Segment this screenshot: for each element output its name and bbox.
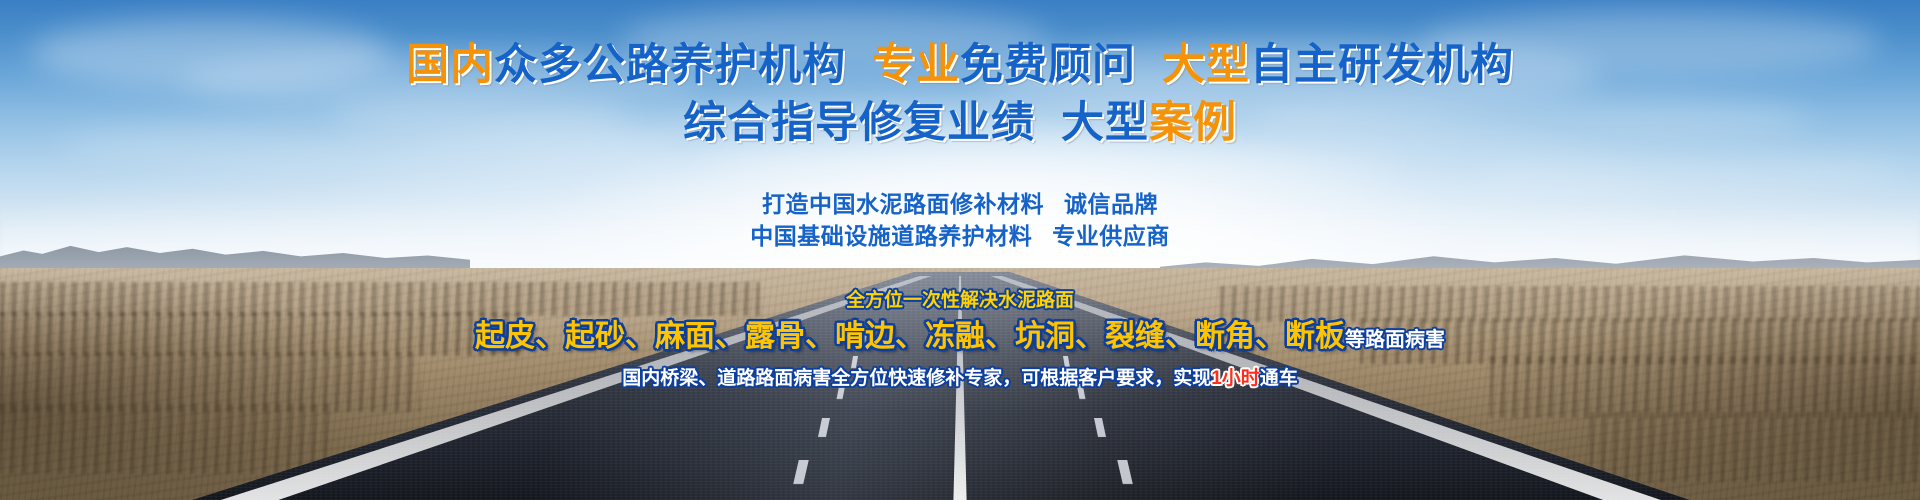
headline-seg-rnd-org: 自主研发机构 [1250,41,1514,89]
bottom-line-1: 全方位一次性解决水泥路面 [0,288,1920,314]
headline-line-2: 综合指导修复业绩大型案例 [0,96,1920,150]
bottom-defect-suffix: 等路面病害 [1345,329,1445,351]
headline-seg-large-scale: 大型 [1162,41,1250,89]
subtitle-block: 打造中国水泥路面修补材料诚信品牌 中国基础设施道路养护材料专业供应商 [0,188,1920,252]
headline-seg-guidance-results: 综合指导修复业绩 [683,99,1035,147]
headline-seg-free-consult: 免费顾问 [960,41,1136,89]
subtitle-supplier: 专业供应商 [1052,223,1170,249]
bottom-one-hour-highlight: 1小时 [1211,368,1260,389]
bottom-open-traffic: 通车 [1260,368,1298,389]
headline-line-1: 国内众多公路养护机构专业免费顾问大型自主研发机构 [0,38,1920,92]
headline-seg-large: 大型 [1061,99,1149,147]
bottom-defect-list: 起皮、起砂、麻面、露骨、啃边、冻融、坑洞、裂缝、断角、断板 [475,320,1345,353]
subtitle-infrastructure-material: 中国基础设施道路养护材料 [750,223,1032,249]
subtitle-line-1: 打造中国水泥路面修补材料诚信品牌 [0,188,1920,220]
subtitle-line-2: 中国基础设施道路养护材料专业供应商 [0,220,1920,252]
headline-seg-professional: 专业 [872,41,960,89]
headline-seg-domestic: 国内 [406,41,494,89]
bottom-line-3: 国内桥梁、道路路面病害全方位快速修补专家，可根据客户要求，实现1小时通车 [0,365,1920,393]
bottom-message-block: 全方位一次性解决水泥路面 起皮、起砂、麻面、露骨、啃边、冻融、坑洞、裂缝、断角、… [0,288,1920,393]
subtitle-trusted-brand: 诚信品牌 [1064,191,1158,217]
headline-seg-agencies: 众多公路养护机构 [494,41,846,89]
headline-block: 国内众多公路养护机构专业免费顾问大型自主研发机构 综合指导修复业绩大型案例 [0,38,1920,150]
bottom-expert-claim: 国内桥梁、道路路面病害全方位快速修补专家，可根据客户要求，实现 [622,368,1211,389]
promotional-banner: 国内众多公路养护机构专业免费顾问大型自主研发机构 综合指导修复业绩大型案例 打造… [0,0,1920,500]
headline-seg-cases: 案例 [1149,99,1237,147]
subtitle-material-brand: 打造中国水泥路面修补材料 [762,191,1044,217]
bottom-line-2: 起皮、起砂、麻面、露骨、啃边、冻融、坑洞、裂缝、断角、断板等路面病害 [0,316,1920,361]
text-overlay: 国内众多公路养护机构专业免费顾问大型自主研发机构 综合指导修复业绩大型案例 打造… [0,0,1920,500]
